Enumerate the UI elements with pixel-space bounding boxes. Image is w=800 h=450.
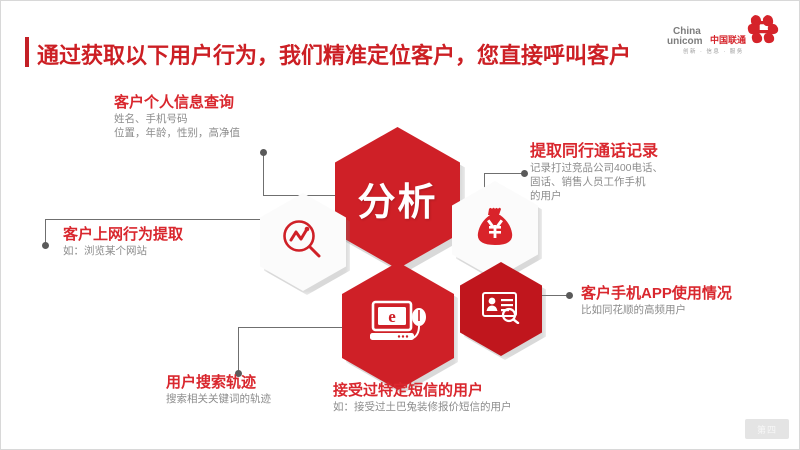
connector-search-trace-v — [238, 327, 239, 373]
callout-search-trace: 用户搜索轨迹 搜索相关关键词的轨迹 — [166, 373, 271, 406]
callout-search-trace-heading: 用户搜索轨迹 — [166, 373, 271, 392]
callout-sms-users-sub-0: 如：接受过土巴兔装修报价短信的用户 — [333, 400, 512, 414]
laptop-browser-e-icon: e — [367, 297, 429, 356]
callout-web-behavior-sub-0: 如：浏览某个网站 — [63, 244, 183, 258]
callout-sms-users: 接受过特定短信的用户 如：接受过土巴兔装修报价短信的用户 — [333, 381, 512, 414]
connector-dot-web-behavior — [42, 242, 49, 249]
slide-canvas: 通过获取以下用户行为，我们精准定位客户，您直接呼叫客户 China unicom… — [0, 0, 800, 450]
callout-customer-info-sub-1: 位置，年龄，性别，高净值 — [114, 126, 240, 140]
callout-app-usage-sub-0: 比如同花顺的高频用户 — [581, 303, 732, 317]
callout-call-records-heading: 提取同行通话记录 — [530, 142, 663, 161]
callout-customer-info: 客户个人信息查询 姓名、手机号码 位置，年龄，性别，高净值 — [114, 93, 240, 140]
id-card-search-icon — [481, 290, 521, 329]
callout-web-behavior-heading: 客户上网行为提取 — [63, 225, 183, 244]
connector-search-trace-h — [238, 327, 348, 328]
callout-call-records-sub-1: 固话、销售人员工作手机 — [530, 175, 663, 189]
callout-app-usage: 客户手机APP使用情况 比如同花顺的高频用户 — [581, 284, 732, 317]
callout-app-usage-heading: 客户手机APP使用情况 — [581, 284, 732, 303]
connector-web-behavior-h — [45, 219, 283, 220]
connector-call-records-h — [484, 173, 524, 174]
callout-customer-info-sub-0: 姓名、手机号码 — [114, 112, 240, 126]
svg-text:e: e — [388, 307, 396, 326]
connector-dot-call-records — [521, 170, 528, 177]
callout-customer-info-heading: 客户个人信息查询 — [114, 93, 240, 112]
connector-customer-info-v — [263, 152, 264, 196]
callout-call-records-sub-2: 的用户 — [530, 189, 663, 203]
money-bag-yuan-icon — [474, 206, 516, 255]
title-accent-bar — [25, 37, 29, 67]
hexagon-analysis-label: 分析 — [357, 171, 437, 226]
svg-text:中国联通: 中国联通 — [710, 34, 746, 45]
svg-text:创新 · 信息 · 服务: 创新 · 信息 · 服务 — [683, 47, 744, 55]
callout-call-records-sub-0: 记录打过竞品公司400电话、 — [530, 161, 663, 175]
callout-call-records: 提取同行通话记录 记录打过竞品公司400电话、 固话、销售人员工作手机 的用户 — [530, 142, 663, 203]
page-title: 通过获取以下用户行为，我们精准定位客户，您直接呼叫客户 — [37, 38, 631, 70]
callout-sms-users-heading: 接受过特定短信的用户 — [333, 381, 512, 400]
connector-dot-app-usage — [566, 292, 573, 299]
chart-magnifier-icon — [280, 217, 326, 268]
callout-web-behavior: 客户上网行为提取 如：浏览某个网站 — [63, 225, 183, 258]
connector-dot-customer-info — [260, 149, 267, 156]
watermark: 第四 — [745, 419, 789, 439]
callout-search-trace-sub-0: 搜索相关关键词的轨迹 — [166, 392, 271, 406]
svg-text:unicom: unicom — [667, 36, 703, 47]
china-unicom-logo: China unicom 中国联通 创新 · 信息 · 服务 — [667, 11, 785, 57]
